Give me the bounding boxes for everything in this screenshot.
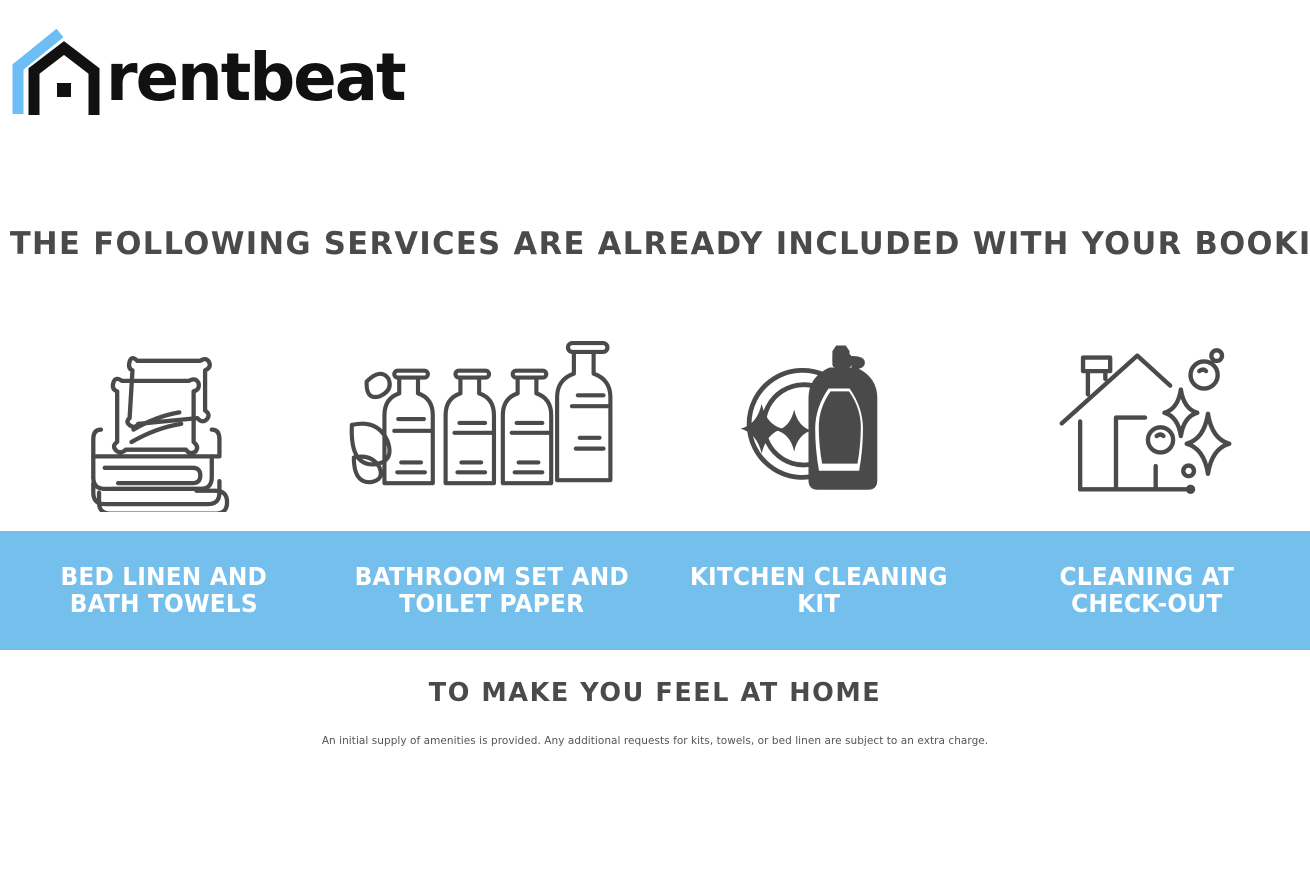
service-label-cell-bathroom: BATHROOM SET AND TOILET PAPER: [328, 531, 656, 650]
service-label-cell-kitchen: KITCHEN CLEANING KIT: [655, 531, 983, 650]
service-icon-cell-bathroom: [328, 318, 656, 523]
toiletry-bottles-with-leaves-icon: [343, 334, 639, 507]
house-logo-icon: [8, 29, 100, 121]
page-title: THE FOLLOWING SERVICES ARE ALREADY INCLU…: [10, 226, 1300, 262]
service-label: BATHROOM SET AND TOILET PAPER: [352, 564, 631, 618]
service-icon-cell-kitchen: [655, 318, 983, 523]
brand-logo[interactable]: rentbeat: [8, 25, 414, 125]
service-icon-cell-checkout: [983, 318, 1310, 523]
service-label-cell-bed-linen: BED LINEN AND BATH TOWELS: [0, 531, 328, 650]
service-icon-cell-bed-linen: [0, 318, 328, 523]
service-label: KITCHEN CLEANING KIT: [679, 564, 958, 618]
service-label-band: BED LINEN AND BATH TOWELS BATHROOM SET A…: [0, 531, 1310, 650]
pillows-and-folded-towels-icon: [78, 330, 250, 512]
service-label: CLEANING AT CHECK-OUT: [1007, 564, 1286, 618]
footer-disclaimer: An initial supply of amenities is provid…: [0, 735, 1310, 747]
footer-tagline: TO MAKE YOU FEEL AT HOME: [13, 678, 1297, 708]
brand-wordmark: rentbeat: [106, 45, 405, 111]
service-label: BED LINEN AND BATH TOWELS: [24, 564, 303, 618]
dish-soap-bottle-with-shine-icon: [733, 335, 905, 507]
sparkling-house-icon: [1054, 336, 1238, 506]
service-icon-row: [0, 318, 1310, 523]
service-label-cell-checkout: CLEANING AT CHECK-OUT: [983, 531, 1310, 650]
